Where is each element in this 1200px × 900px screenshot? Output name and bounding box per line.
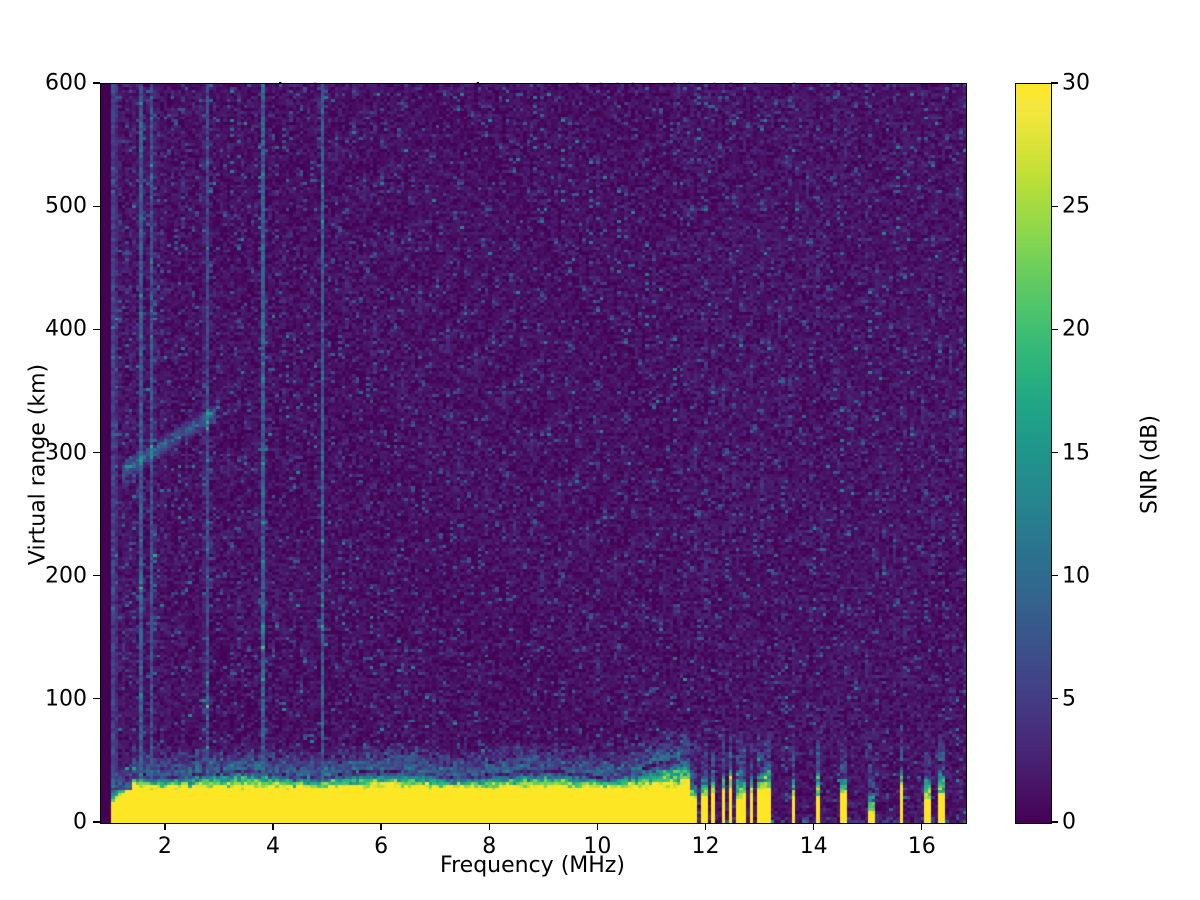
colorbar-tick-label: 15 (1062, 440, 1090, 465)
y-axis-label: Virtual range (km) (26, 335, 51, 595)
colorbar-tick-label: 20 (1062, 317, 1090, 342)
ionogram-heatmap-canvas (101, 84, 966, 823)
colorbar-tick-label: 10 (1062, 563, 1090, 588)
y-tick-mark (93, 575, 100, 576)
x-tick-mark (597, 823, 598, 830)
colorbar-tick-label: 0 (1062, 810, 1076, 835)
ionogram-plot-area[interactable] (100, 83, 967, 824)
colorbar-tick-label: 5 (1062, 686, 1076, 711)
colorbar-tick-mark (1051, 82, 1058, 83)
y-tick-mark (93, 206, 100, 207)
y-tick-mark (93, 821, 100, 822)
ionogram-figure: IRF Uppsala SDR Ionosonde UP158 2025-03-… (0, 0, 1200, 900)
y-tick-mark (93, 452, 100, 453)
y-tick-mark (93, 698, 100, 699)
x-tick-mark (705, 823, 706, 830)
y-tick-label: 0 (5, 810, 87, 835)
y-tick-mark (93, 82, 100, 83)
x-tick-mark (813, 823, 814, 830)
colorbar-tick-mark (1051, 575, 1058, 576)
y-tick-label: 500 (5, 194, 87, 219)
x-tick-mark (272, 823, 273, 830)
colorbar-tick-mark (1051, 329, 1058, 330)
colorbar-tick-label: 30 (1062, 71, 1090, 96)
y-tick-label: 600 (5, 71, 87, 96)
x-tick-mark (164, 823, 165, 830)
x-tick-mark (489, 823, 490, 830)
colorbar[interactable] (1015, 83, 1052, 824)
colorbar-tick-mark (1051, 452, 1058, 453)
x-axis-label: Frequency (MHz) (100, 853, 965, 878)
colorbar-tick-mark (1051, 206, 1058, 207)
colorbar-gradient-canvas (1016, 84, 1051, 823)
colorbar-label: SNR (dB) (1138, 335, 1163, 595)
x-tick-mark (921, 823, 922, 830)
colorbar-tick-mark (1051, 821, 1058, 822)
x-tick-mark (380, 823, 381, 830)
y-tick-label: 100 (5, 686, 87, 711)
colorbar-tick-mark (1051, 698, 1058, 699)
y-tick-mark (93, 329, 100, 330)
colorbar-tick-label: 25 (1062, 194, 1090, 219)
